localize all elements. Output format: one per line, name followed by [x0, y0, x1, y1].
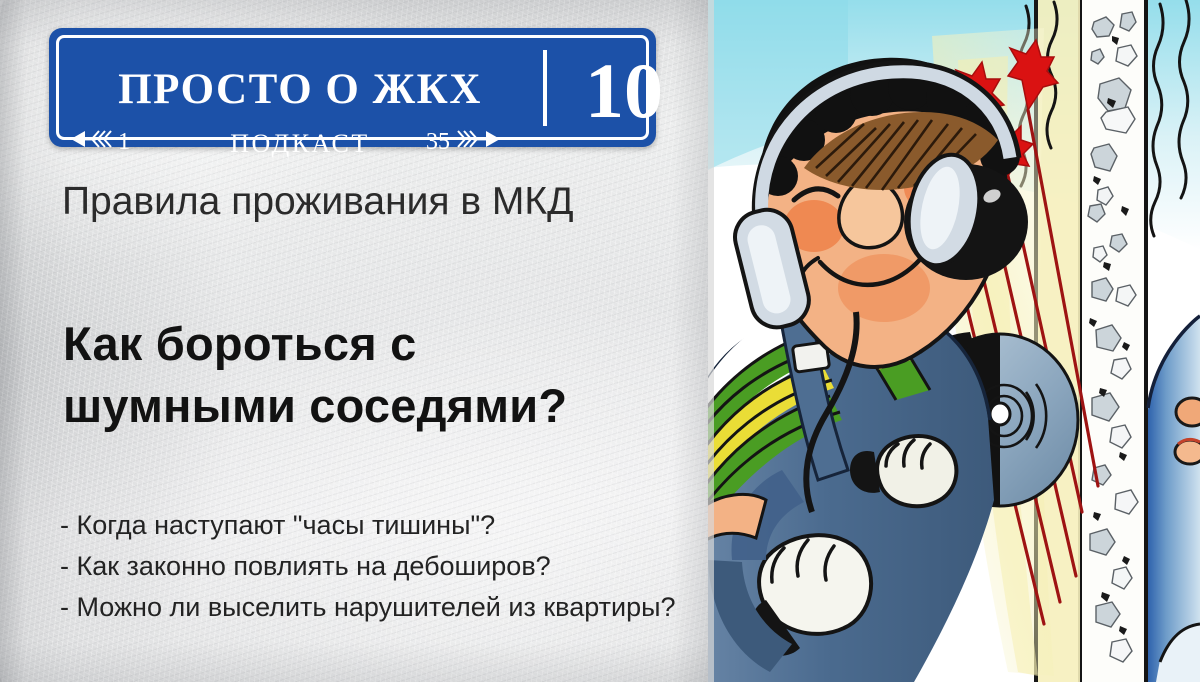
road-sign-banner: ПРОСТО О ЖКХ ПОДКАСТ 1 35	[49, 28, 656, 147]
list-item: - Как законно повлиять на дебоширов?	[60, 546, 720, 587]
sign-divider	[543, 50, 547, 126]
kicker-text: Правила проживания в МКД	[62, 182, 574, 223]
km-left-value: 1	[118, 130, 130, 154]
sign-title: ПРОСТО О ЖКХ	[105, 68, 495, 111]
headline-title: Как бороться с шумными соседями?	[63, 313, 683, 437]
bullet-list: - Когда наступают "часы тишины"? - Как з…	[60, 505, 720, 628]
episode-number: 10	[569, 52, 679, 130]
arrow-right-icon	[454, 129, 504, 154]
list-item: - Когда наступают "часы тишины"?	[60, 505, 720, 546]
km-marker-right: 35	[426, 129, 504, 154]
km-marker-left: 1	[69, 129, 130, 154]
list-item: - Можно ли выселить нарушителей из кварт…	[60, 587, 720, 628]
podcast-poster: ПРОСТО О ЖКХ ПОДКАСТ 1 35	[0, 0, 1200, 682]
arrow-left-icon	[69, 129, 115, 154]
headline-line-2: шумными соседями?	[63, 375, 683, 437]
headline-line-1: Как бороться с	[63, 313, 683, 375]
illustration-man-with-grinder	[708, 0, 1200, 682]
km-right-value: 35	[426, 130, 450, 154]
